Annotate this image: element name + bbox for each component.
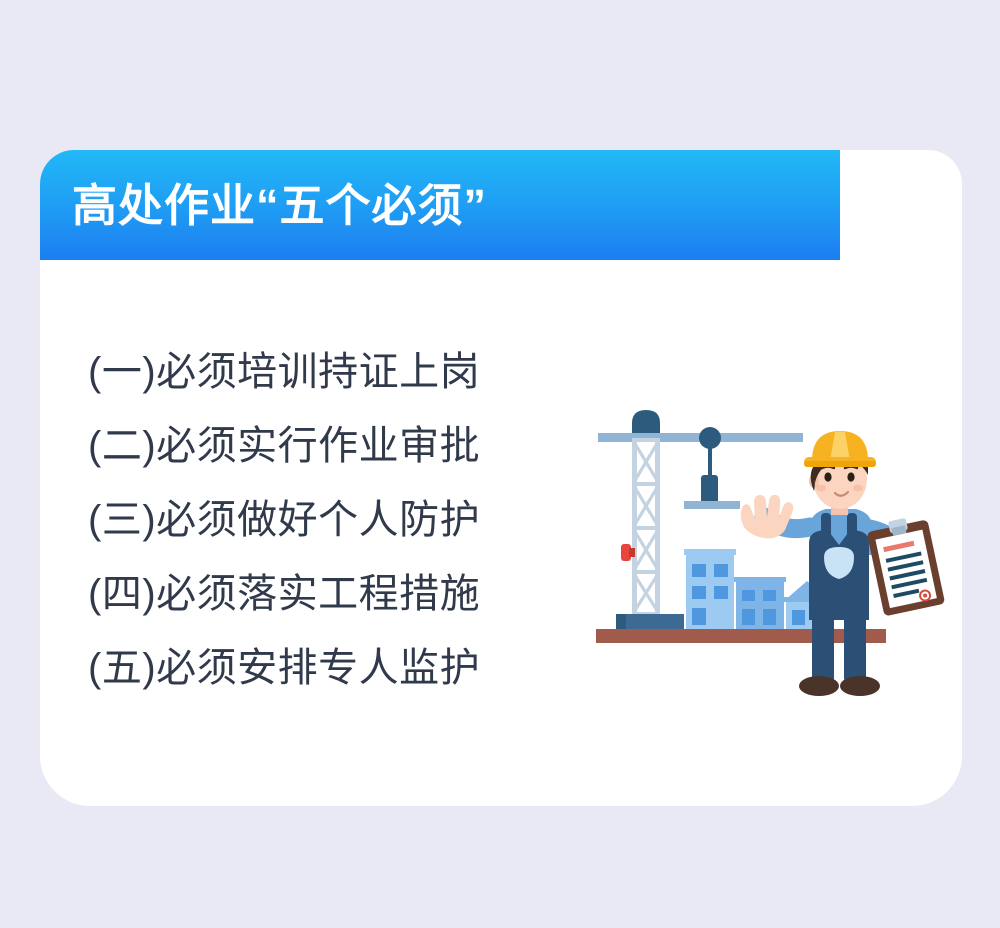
- rule-item-4: (四)必须落实工程措施: [88, 574, 548, 614]
- construction-worker: [741, 431, 945, 696]
- rule-item-5: (五)必须安排专人监护: [88, 648, 548, 688]
- rules-list: (一)必须培训持证上岗 (二)必须实行作业审批 (三)必须做好个人防护 (四)必…: [88, 352, 548, 688]
- title-bar: 高处作业“五个必须”: [40, 150, 840, 260]
- buildings-illustration: [684, 549, 830, 629]
- construction-worker-illustration: [588, 405, 948, 705]
- hard-hat-icon: [804, 431, 876, 467]
- rule-item-2: (二)必须实行作业审批: [88, 426, 548, 466]
- rule-item-3: (三)必须做好个人防护: [88, 500, 548, 540]
- rule-item-1: (一)必须培训持证上岗: [88, 352, 548, 392]
- poster-canvas: 高处作业“五个必须” (一)必须培训持证上岗 (二)必须实行作业审批 (三)必须…: [0, 0, 1000, 928]
- ground-bar: [596, 629, 886, 643]
- page-title: 高处作业“五个必须”: [40, 183, 487, 228]
